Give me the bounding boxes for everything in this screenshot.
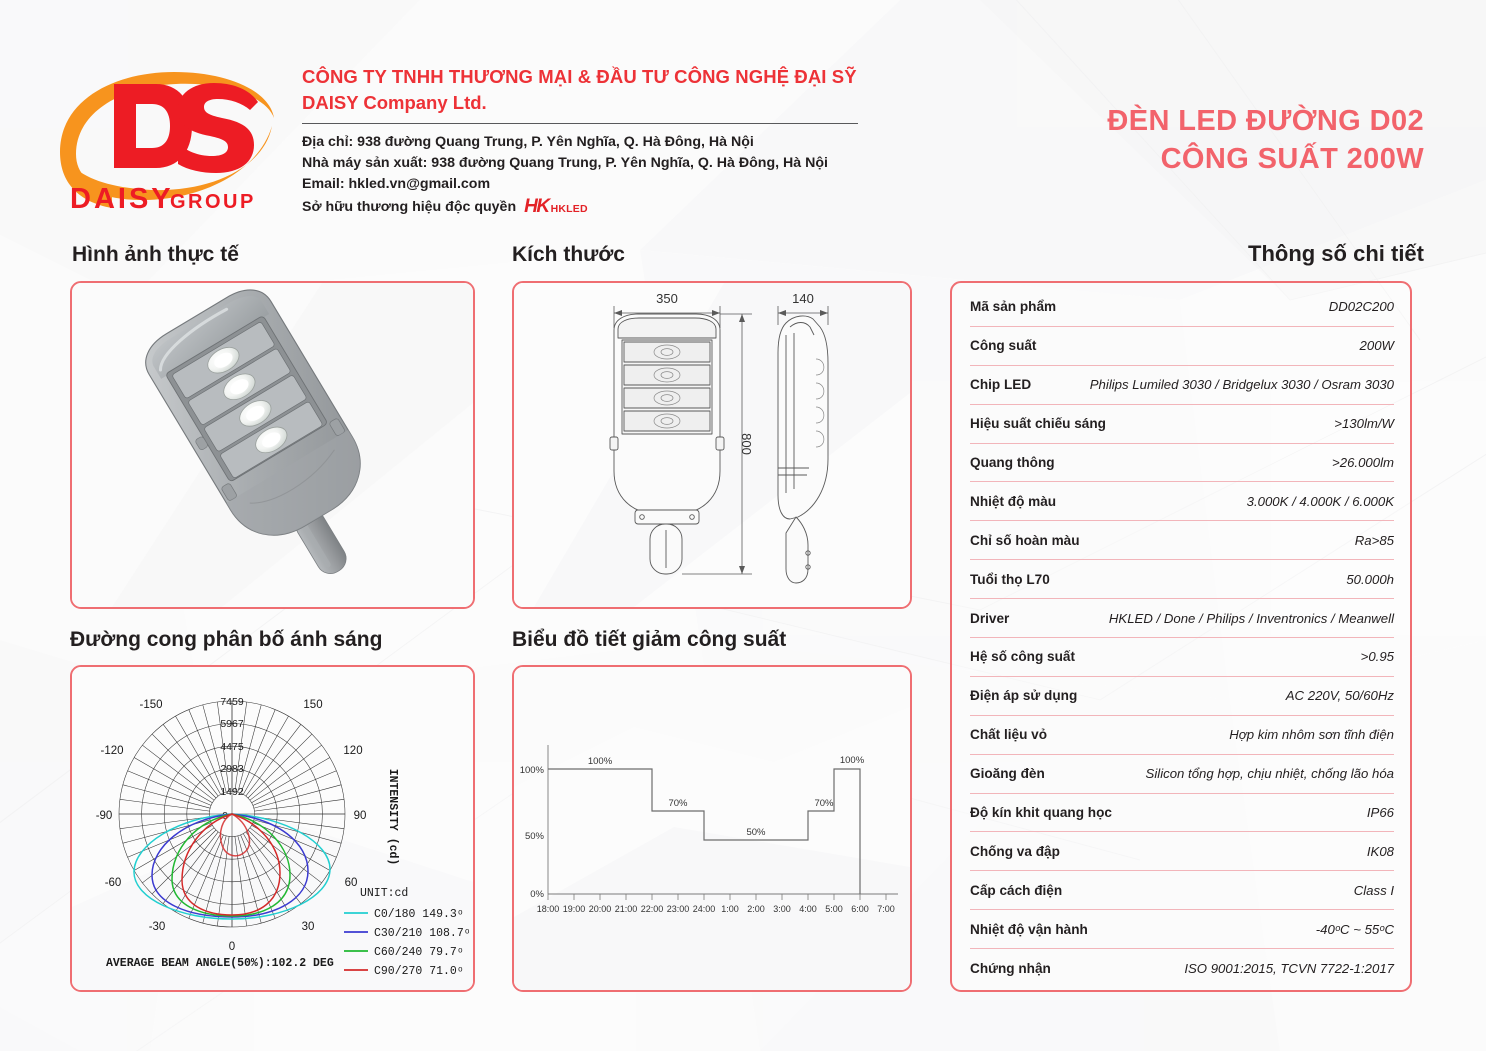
company-factory: Nhà máy sản xuất: 938 đường Quang Trung,… (302, 153, 858, 174)
spec-value: >130lm/W (1334, 416, 1394, 431)
company-info: CÔNG TY TNHH THƯƠNG MẠI & ĐẦU TƯ CÔNG NG… (302, 56, 858, 221)
legend-unit: UNIT:cd (360, 887, 408, 900)
logo-suffix: GROUP (170, 191, 256, 213)
section-heading-spec: Thông số chi tiết (1248, 241, 1424, 267)
company-email: Email: hkled.vn@gmail.com (302, 174, 858, 195)
spec-label: Mã sản phẩm (970, 299, 1056, 314)
spec-label: Gioăng đèn (970, 766, 1045, 781)
svg-text:-60: -60 (105, 877, 122, 889)
spec-row: Công suất200W (970, 327, 1394, 366)
spec-value: IP66 (1367, 805, 1394, 820)
header-divider (302, 123, 858, 124)
svg-text:4475: 4475 (220, 741, 244, 753)
specification-table: Mã sản phẩmDD02C200Công suất200WChip LED… (952, 283, 1410, 990)
svg-text:5967: 5967 (220, 718, 244, 730)
spec-value: Silicon tổng hợp, chịu nhiệt, chống lão … (1146, 766, 1394, 781)
svg-text:0%: 0% (530, 889, 544, 900)
svg-text:6:00: 6:00 (851, 904, 869, 914)
dimension-drawing-panel: 350 140 800 (512, 281, 912, 609)
spec-row: Mã sản phẩmDD02C200 (970, 288, 1394, 327)
svg-text:30: 30 (302, 921, 315, 933)
power-dimming-chart: 100% 50% 0% (514, 667, 910, 990)
svg-text:22:00: 22:00 (641, 904, 664, 914)
svg-text:1:00: 1:00 (721, 904, 739, 914)
company-name-vn: CÔNG TY TNHH THƯƠNG MẠI & ĐẦU TƯ CÔNG NG… (302, 66, 858, 88)
svg-text:2:00: 2:00 (747, 904, 765, 914)
svg-text:5:00: 5:00 (825, 904, 843, 914)
spec-label: Cấp cách điện (970, 883, 1062, 898)
light-distribution-chart: 7459 5967 4475 2983 1492 0 -150 150 -120… (72, 667, 473, 990)
spec-value: Philips Lumiled 3030 / Bridgelux 3030 / … (1090, 377, 1394, 392)
svg-text:4:00: 4:00 (799, 904, 817, 914)
svg-text:100%: 100% (520, 765, 545, 776)
section-heading-dimensions: Kích thước (512, 243, 625, 267)
svg-text:1492: 1492 (220, 786, 244, 798)
spec-label: Công suất (970, 338, 1036, 353)
spec-label: Nhiệt độ vận hành (970, 922, 1088, 937)
spec-value: IK08 (1367, 844, 1394, 859)
hkled-logo: HK HKLED (524, 196, 588, 218)
svg-text:-90: -90 (96, 810, 113, 822)
legend-label-c30: C30/210 108.7ᵒ (374, 927, 471, 940)
polar-footer: AVERAGE BEAM ANGLE(50%):102.2 DEG (106, 957, 334, 970)
svg-text:90: 90 (354, 810, 367, 822)
spec-value: Ra>85 (1355, 533, 1394, 548)
svg-text:7:00: 7:00 (877, 904, 895, 914)
polar-ylabel: INTENSITY (cd) (386, 769, 399, 866)
spec-row: Gioăng đènSilicon tổng hợp, chịu nhiệt, … (970, 755, 1394, 794)
logo-wordmark: DAISY (70, 183, 174, 214)
spec-value: 200W (1360, 338, 1394, 353)
spec-label: Độ kín khit quang học (970, 805, 1112, 820)
section-heading-light-curve: Đường cong phân bố ánh sáng (70, 628, 382, 652)
spec-row: Chỉ số hoàn màuRa>85 (970, 521, 1394, 560)
spec-value: >0.95 (1361, 649, 1394, 664)
spec-row: Chống va đậpIK08 (970, 832, 1394, 871)
svg-text:19:00: 19:00 (563, 904, 586, 914)
svg-text:21:00: 21:00 (615, 904, 638, 914)
spec-label: Tuổi thọ L70 (970, 572, 1050, 587)
dim-width-label: 350 (656, 291, 678, 306)
spec-label: Chống va đập (970, 844, 1060, 859)
spec-value: HKLED / Done / Philips / Inventronics / … (1109, 611, 1394, 626)
svg-text:50%: 50% (746, 827, 766, 838)
spec-row: Hệ số công suất>0.95 (970, 638, 1394, 677)
svg-text:18:00: 18:00 (537, 904, 560, 914)
company-name-en: DAISY Company Ltd. (302, 92, 858, 114)
spec-value: Class I (1354, 883, 1394, 898)
svg-text:50%: 50% (525, 831, 545, 842)
spec-label: Nhiệt độ màu (970, 494, 1056, 509)
hkled-mark-icon: HK (524, 196, 548, 218)
spec-row: Điện áp sử dụngAC 220V, 50/60Hz (970, 677, 1394, 716)
spec-row: Độ kín khit quang họcIP66 (970, 794, 1394, 833)
spec-row: Chứng nhậnISO 9001:2015, TCVN 7722-1:201… (970, 949, 1394, 988)
spec-value: 3.000K / 4.000K / 6.000K (1247, 494, 1394, 509)
svg-text:-120: -120 (100, 745, 123, 757)
hkled-wordmark: HKLED (551, 203, 588, 215)
dimension-drawing: 350 140 800 (514, 283, 910, 607)
spec-label: Quang thông (970, 455, 1055, 470)
legend-label-c90: C90/270 71.0ᵒ (374, 965, 464, 978)
spec-label: Chỉ số hoàn màu (970, 533, 1080, 548)
svg-text:-150: -150 (139, 699, 162, 711)
section-heading-photo: Hình ảnh thực tế (72, 243, 239, 267)
brand-note: Sở hữu thương hiệu độc quyền (302, 197, 516, 218)
spec-value: ISO 9001:2015, TCVN 7722-1:2017 (1184, 961, 1394, 976)
spec-value: Hợp kim nhôm sơn tĩnh điện (1229, 727, 1394, 742)
svg-text:70%: 70% (814, 798, 834, 809)
spec-value: -40ᵒC ~ 55ᵒC (1316, 922, 1394, 937)
svg-text:24:00: 24:00 (693, 904, 716, 914)
spec-value: DD02C200 (1329, 299, 1394, 314)
svg-text:0: 0 (229, 941, 235, 953)
spec-row: Quang thông>26.000lm (970, 444, 1394, 483)
product-title-line1: ĐÈN LED ĐƯỜNG D02 (1107, 102, 1424, 140)
svg-text:70%: 70% (668, 798, 688, 809)
legend-label-c60: C60/240 79.7ᵒ (374, 946, 464, 959)
brand-ownership-row: Sở hữu thương hiệu độc quyền HK HKLED (302, 196, 858, 218)
spec-row: Tuổi thọ L7050.000h (970, 560, 1394, 599)
logo-icon: DAISY GROUP (52, 56, 280, 214)
svg-text:60: 60 (345, 877, 358, 889)
spec-value: AC 220V, 50/60Hz (1286, 688, 1394, 703)
daisy-group-logo: DAISY GROUP (52, 56, 280, 214)
svg-text:23:00: 23:00 (667, 904, 690, 914)
spec-row: Chất liệu vỏHợp kim nhôm sơn tĩnh điện (970, 716, 1394, 755)
svg-text:150: 150 (303, 699, 322, 711)
dim-depth-label: 140 (792, 291, 814, 306)
svg-text:120: 120 (343, 745, 362, 757)
dim-height-label: 800 (739, 433, 754, 455)
svg-text:100%: 100% (840, 755, 865, 766)
svg-text:100%: 100% (588, 756, 613, 767)
spec-value: 50.000h (1346, 572, 1394, 587)
spec-label: Driver (970, 611, 1009, 626)
page-header: DAISY GROUP CÔNG TY TNHH THƯƠNG MẠI & ĐẦ… (52, 56, 952, 221)
svg-text:3:00: 3:00 (773, 904, 791, 914)
spec-label: Chứng nhận (970, 961, 1051, 976)
product-title-line2: CÔNG SUẤT 200W (1107, 140, 1424, 178)
legend-label-c0: C0/180 149.3ᵒ (374, 908, 464, 921)
spec-row: DriverHKLED / Done / Philips / Inventron… (970, 599, 1394, 638)
spec-row: Nhiệt độ vận hành-40ᵒC ~ 55ᵒC (970, 910, 1394, 949)
company-address: Địa chỉ: 938 đường Quang Trung, P. Yên N… (302, 132, 858, 153)
product-photo-panel (70, 281, 475, 609)
svg-text:-30: -30 (149, 921, 166, 933)
svg-text:7459: 7459 (220, 696, 244, 708)
svg-text:20:00: 20:00 (589, 904, 612, 914)
spec-row: Hiệu suất chiếu sáng>130lm/W (970, 405, 1394, 444)
power-dimming-panel: 100% 50% 0% (512, 665, 912, 992)
light-distribution-panel: 7459 5967 4475 2983 1492 0 -150 150 -120… (70, 665, 475, 992)
spec-label: Hiệu suất chiếu sáng (970, 416, 1106, 431)
spec-row: Cấp cách điệnClass I (970, 871, 1394, 910)
product-title: ĐÈN LED ĐƯỜNG D02 CÔNG SUẤT 200W (1107, 102, 1424, 178)
product-photo-image (72, 283, 473, 607)
spec-label: Điện áp sử dụng (970, 688, 1077, 703)
section-heading-power-chart: Biểu đồ tiết giảm công suất (512, 628, 786, 652)
spec-label: Hệ số công suất (970, 649, 1075, 664)
spec-value: >26.000lm (1332, 455, 1394, 470)
spec-label: Chip LED (970, 377, 1031, 392)
svg-text:2983: 2983 (220, 763, 244, 775)
specification-panel: Mã sản phẩmDD02C200Công suất200WChip LED… (950, 281, 1412, 992)
spec-row: Chip LEDPhilips Lumiled 3030 / Bridgelux… (970, 366, 1394, 405)
spec-label: Chất liệu vỏ (970, 727, 1047, 742)
spec-row: Nhiệt độ màu3.000K / 4.000K / 6.000K (970, 482, 1394, 521)
